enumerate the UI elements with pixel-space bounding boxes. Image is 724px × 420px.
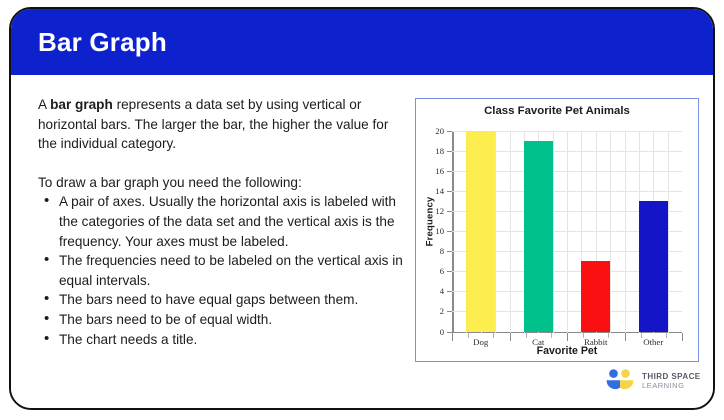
- chart-y-tick: [447, 251, 452, 252]
- chart-x-subtick: [551, 333, 552, 338]
- list-item: The bars need to be of equal width.: [38, 310, 406, 330]
- chart-gridline-vertical: [495, 131, 496, 333]
- chart-y-tick-label: 16: [435, 166, 444, 176]
- chart-bar-cat: [524, 141, 553, 331]
- chart-y-axis-label: Frequency: [425, 177, 436, 267]
- chart-y-tick: [447, 271, 452, 272]
- lesson-card: Bar Graph A bar graph represents a data …: [9, 7, 715, 410]
- requirements-list: A pair of axes. Usually the horizontal a…: [38, 192, 406, 349]
- chart-panel: Class Favorite Pet Animals Frequency 024…: [415, 98, 699, 362]
- chart-x-subtick: [666, 333, 667, 338]
- page-title: Bar Graph: [38, 27, 167, 58]
- chart-bar-rabbit: [581, 261, 610, 331]
- chart-x-axis-label: Favorite Pet: [452, 345, 682, 357]
- chart-x-tick: [510, 333, 511, 341]
- intro-bold-term: bar graph: [50, 97, 113, 112]
- chart-y-tick-label: 2: [440, 306, 444, 316]
- lesson-text-column: A bar graph represents a data set by usi…: [38, 95, 406, 349]
- list-item: A pair of axes. Usually the horizontal a…: [38, 192, 406, 251]
- chart-x-tick: [682, 333, 683, 341]
- chart-y-tick-label: 12: [435, 206, 444, 216]
- chart-bar-dog: [466, 131, 495, 332]
- chart-x-tick: [625, 333, 626, 341]
- chart-y-tick: [447, 231, 452, 232]
- chart-gridline-vertical: [625, 131, 626, 333]
- chart-gridline-vertical: [610, 131, 611, 333]
- chart-plot: 02468101214161820: [452, 131, 682, 333]
- chart-x-subtick: [608, 333, 609, 338]
- chart-y-tick: [447, 131, 452, 132]
- lead-in-text: To draw a bar graph you need the followi…: [38, 173, 406, 193]
- list-item: The chart needs a title.: [38, 330, 406, 350]
- chart-gridline-vertical: [668, 131, 669, 333]
- chart-y-tick-label: 6: [440, 266, 444, 276]
- chart-y-tick-label: 18: [435, 146, 444, 156]
- intro-before-bold: A: [38, 97, 50, 112]
- chart-x-tick: [452, 333, 453, 341]
- chart-gridline-vertical: [510, 131, 511, 333]
- logo-wordmark: THIRD SPACE LEARNING: [642, 373, 701, 390]
- logo-line-2: LEARNING: [642, 382, 701, 391]
- chart-x-subtick: [641, 333, 642, 338]
- chart-y-tick-label: 14: [435, 186, 444, 196]
- intro-paragraph: A bar graph represents a data set by usi…: [38, 95, 406, 154]
- chart-y-tick-label: 0: [440, 327, 444, 337]
- chart-title: Class Favorite Pet Animals: [416, 105, 698, 117]
- chart-y-tick-label: 10: [435, 226, 444, 236]
- chart-x-subtick: [493, 333, 494, 338]
- paragraph-spacer: [38, 154, 406, 173]
- chart-y-tick: [447, 291, 452, 292]
- chart-plot-area: Frequency 02468101214161820 DogCatRabbit…: [416, 123, 700, 363]
- third-space-learning-logo-icon: [605, 369, 635, 395]
- chart-y-tick-label: 4: [440, 286, 444, 296]
- chart-y-tick-label: 8: [440, 246, 444, 256]
- chart-y-tick-label: 20: [435, 126, 444, 136]
- chart-x-subtick: [526, 333, 527, 338]
- chart-x-subtick: [468, 333, 469, 338]
- chart-y-tick: [447, 171, 452, 172]
- chart-y-tick: [447, 311, 452, 312]
- chart-gridline-vertical: [567, 131, 568, 333]
- chart-bar-other: [639, 201, 668, 331]
- body-area: A bar graph represents a data set by usi…: [11, 75, 713, 410]
- list-item: The bars need to have equal gaps between…: [38, 290, 406, 310]
- list-item: The frequencies need to be labeled on th…: [38, 251, 406, 290]
- brand-logo: THIRD SPACE LEARNING: [605, 367, 709, 397]
- chart-y-tick: [447, 211, 452, 212]
- chart-gridline-vertical: [553, 131, 554, 333]
- chart-y-tick: [447, 151, 452, 152]
- header-bar: Bar Graph: [11, 9, 713, 75]
- chart-y-tick: [447, 191, 452, 192]
- chart-x-tick: [567, 333, 568, 341]
